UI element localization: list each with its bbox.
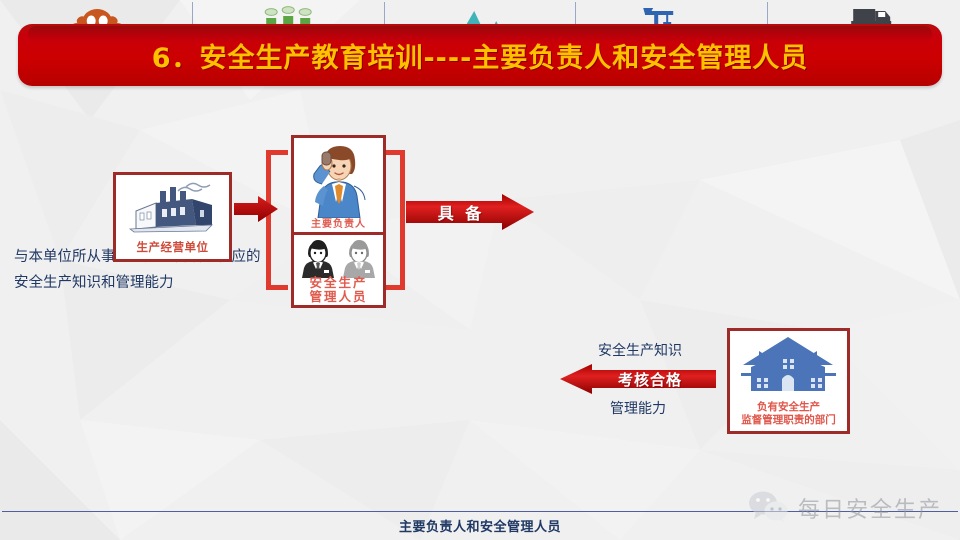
safety-staff-caption-line2: 管理人员 xyxy=(294,290,383,304)
feedback-bottom-label: 管理能力 xyxy=(610,398,666,418)
government-building-icon xyxy=(730,335,847,395)
page-title: 6．安全生产教育培训----主要负责人和安全管理人员 xyxy=(152,36,809,75)
feedback-arrow-label: 考核合格 xyxy=(590,363,710,395)
department-caption-line1: 负有安全生产 xyxy=(730,401,847,414)
slide-canvas: 6．安全生产教育培训----主要负责人和安全管理人员 xyxy=(0,0,960,540)
department-caption: 负有安全生产 监督管理职责的部门 xyxy=(730,401,847,427)
principal-person-box: 主要负责人 xyxy=(291,135,386,238)
factory-icon xyxy=(116,179,229,233)
department-caption-line2: 监督管理职责的部门 xyxy=(730,414,847,427)
watermark: 每日安全生产 xyxy=(748,488,948,528)
slide-title-bar: 6．安全生产教育培训----主要负责人和安全管理人员 xyxy=(18,24,942,86)
safety-staff-box: 安全生产 管理人员 xyxy=(291,232,386,308)
safety-staff-caption-line1: 安全生产 xyxy=(294,276,383,290)
wechat-icon xyxy=(748,490,788,526)
manager-phone-icon xyxy=(294,140,383,222)
principal-caption: 主要负责人 xyxy=(294,219,383,231)
right-arrow-icon xyxy=(232,193,280,225)
department-box: 负有安全生产 监督管理职责的部门 xyxy=(727,328,850,434)
entity-box: 生产经营单位 xyxy=(113,172,232,262)
industry-strip-footer-label: 主要负责人和安全管理人员 xyxy=(399,516,561,535)
entity-caption: 生产经营单位 xyxy=(116,239,229,255)
watermark-text: 每日安全生产 xyxy=(798,492,942,524)
safety-staff-caption: 安全生产 管理人员 xyxy=(294,276,383,304)
possess-arrow-label: 具 备 xyxy=(406,193,516,231)
bracket-right xyxy=(383,150,405,290)
feedback-top-label: 安全生产知识 xyxy=(598,340,682,360)
statement-line-2: 安全生产知识和管理能力 xyxy=(14,270,946,296)
